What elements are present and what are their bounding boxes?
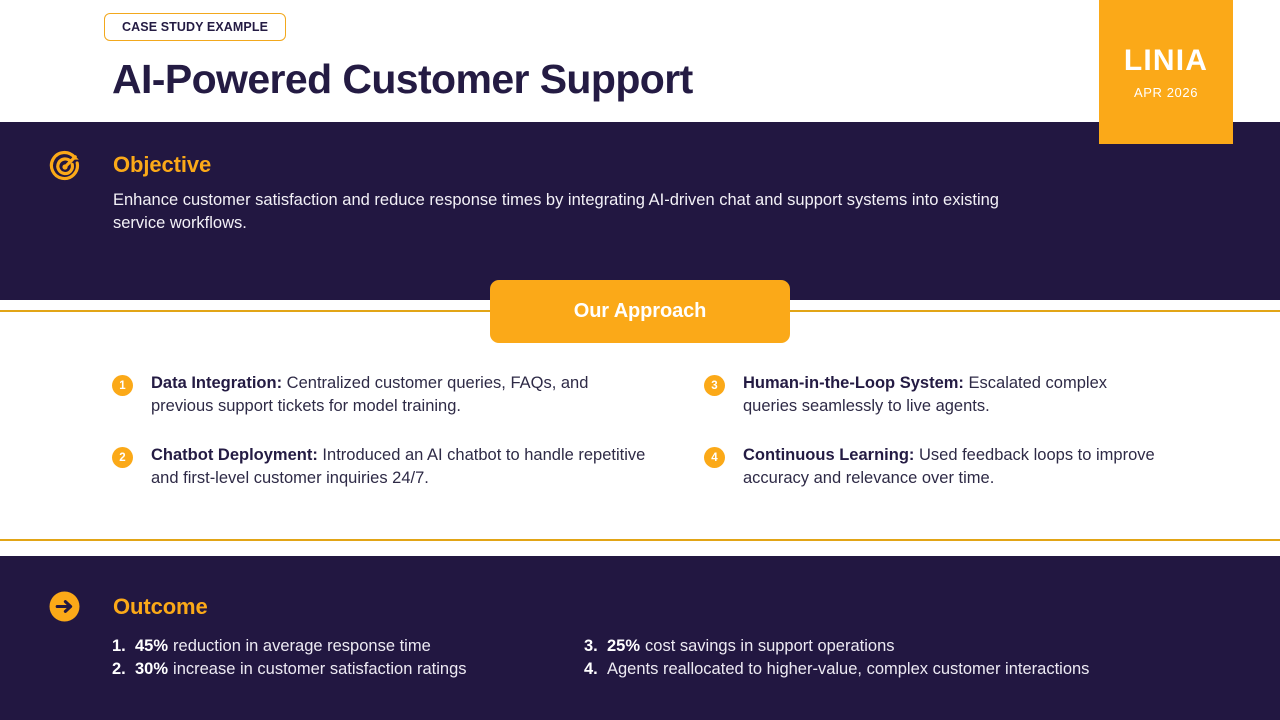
objective-heading: Objective xyxy=(113,152,211,178)
step-number-badge: 4 xyxy=(704,447,725,468)
outcome-item-text: reduction in average response time xyxy=(173,635,431,658)
case-study-badge: CASE STUDY EXAMPLE xyxy=(104,13,286,41)
arrow-right-circle-icon xyxy=(48,590,81,623)
target-icon xyxy=(48,150,82,184)
step-number-badge: 3 xyxy=(704,375,725,396)
brand-date: APR 2026 xyxy=(1134,86,1198,99)
step-number-badge: 2 xyxy=(112,447,133,468)
outcome-item-stat: 25% xyxy=(607,635,640,658)
outcome-item-text: cost savings in support operations xyxy=(645,635,894,658)
outcome-item-stat: 30% xyxy=(135,658,168,681)
approach-item-lead: Continuous Learning: xyxy=(743,446,914,464)
outcome-column-right: 3. 25% cost savings in support operation… xyxy=(584,635,1184,681)
step-number-badge: 1 xyxy=(112,375,133,396)
outcome-item-text: Agents reallocated to higher-value, comp… xyxy=(607,658,1089,681)
approach-column-right: 3 Human-in-the-Loop System: Escalated co… xyxy=(704,372,1164,516)
slide-header: CASE STUDY EXAMPLE AI-Powered Customer S… xyxy=(0,0,1280,122)
approach-item-lead: Human-in-the-Loop System: xyxy=(743,374,964,392)
approach-item-text: Continuous Learning: Used feedback loops… xyxy=(743,444,1164,490)
outcome-item-number: 4. xyxy=(584,658,607,681)
outcome-item-number: 3. xyxy=(584,635,607,658)
slide-root: CASE STUDY EXAMPLE AI-Powered Customer S… xyxy=(0,0,1280,720)
outcome-item: 4. Agents reallocated to higher-value, c… xyxy=(584,658,1184,681)
our-approach-banner: Our Approach xyxy=(490,280,790,343)
brand-name: LINIA xyxy=(1124,46,1208,76)
approach-item-text: Human-in-the-Loop System: Escalated comp… xyxy=(743,372,1164,418)
approach-item-lead: Chatbot Deployment: xyxy=(151,446,318,464)
outcome-item-number: 2. xyxy=(112,658,135,681)
outcome-column-left: 1. 45% reduction in average response tim… xyxy=(112,635,582,681)
outcome-item: 2. 30% increase in customer satisfaction… xyxy=(112,658,582,681)
outcome-item-stat: 45% xyxy=(135,635,168,658)
approach-column-left: 1 Data Integration: Centralized customer… xyxy=(112,372,652,516)
page-title: AI-Powered Customer Support xyxy=(112,56,693,103)
outcome-item-number: 1. xyxy=(112,635,135,658)
outcome-item: 3. 25% cost savings in support operation… xyxy=(584,635,1184,658)
outcome-item: 1. 45% reduction in average response tim… xyxy=(112,635,582,658)
approach-item-lead: Data Integration: xyxy=(151,374,282,392)
approach-item: 3 Human-in-the-Loop System: Escalated co… xyxy=(704,372,1164,418)
outcome-item-text: increase in customer satisfaction rating… xyxy=(173,658,466,681)
divider-bottom xyxy=(0,539,1280,541)
approach-item: 1 Data Integration: Centralized customer… xyxy=(112,372,652,418)
outcome-heading: Outcome xyxy=(113,594,208,620)
approach-item: 2 Chatbot Deployment: Introduced an AI c… xyxy=(112,444,652,490)
objective-body-text: Enhance customer satisfaction and reduce… xyxy=(113,189,1038,235)
approach-item-text: Chatbot Deployment: Introduced an AI cha… xyxy=(151,444,652,490)
brand-logo-block: LINIA APR 2026 xyxy=(1099,0,1233,144)
approach-item: 4 Continuous Learning: Used feedback loo… xyxy=(704,444,1164,490)
approach-item-text: Data Integration: Centralized customer q… xyxy=(151,372,652,418)
